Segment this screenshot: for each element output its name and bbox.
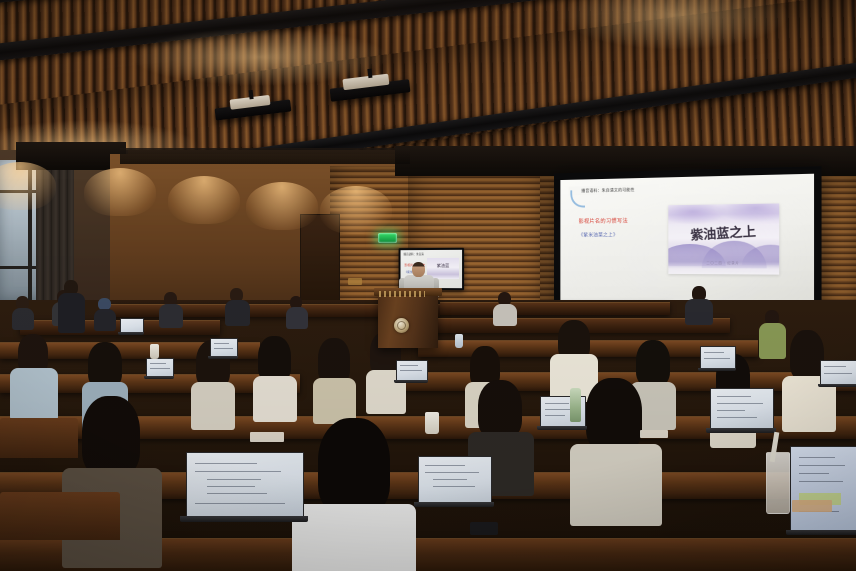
- person-body: [94, 309, 116, 331]
- presenter-head: [412, 262, 425, 277]
- person-hair: [82, 396, 140, 476]
- slide-swoosh-icon: [570, 190, 585, 208]
- person-body: [570, 444, 662, 526]
- lectern-top-surface: [374, 288, 442, 296]
- person-body: [159, 304, 183, 328]
- person-body: [292, 504, 416, 571]
- exit-sign-icon: [378, 233, 397, 243]
- poster-calligraphy-title: 紫油蓝之上: [690, 220, 756, 243]
- person-hair: [478, 380, 522, 438]
- person-body: [225, 300, 250, 326]
- monitor-header-text: 播音语料：朱自清: [403, 252, 423, 256]
- slide-poster-image: 紫油蓝之上 二〇二四 · 纪录片: [668, 203, 779, 274]
- thermos-flask-green[interactable]: [570, 388, 581, 422]
- slide-header-bar: 播音语料：朱自清文的可能性: [569, 185, 659, 196]
- water-bottle-mid[interactable]: [455, 334, 463, 348]
- lectern-nameplate: [379, 291, 425, 297]
- person-hair: [790, 330, 824, 380]
- person-body: [191, 382, 235, 430]
- person-body: [10, 368, 58, 420]
- snack-packet[interactable]: [792, 500, 832, 512]
- wall-header-band-left: [120, 148, 410, 164]
- handout-paper-2: [640, 430, 668, 438]
- chair-back-left-front: [0, 492, 120, 540]
- poster-cloud-2: [716, 203, 779, 222]
- paper-cup-center[interactable]: [425, 412, 439, 434]
- person-hair: [586, 378, 642, 452]
- handout-paper-1: [250, 432, 284, 442]
- person-hair: [318, 418, 390, 514]
- monitor-poster-calligraphy: 紫油蓝: [437, 263, 450, 269]
- person-body: [58, 293, 85, 333]
- person-body: [685, 299, 713, 325]
- lecture-hall-photograph: 播音语料：朱自清文的可能性 影视片名的习惯写法 《紫米油菜之上》 紫油蓝之上 二…: [0, 0, 856, 571]
- door-center[interactable]: [300, 214, 340, 312]
- desk-row-7b: [440, 302, 670, 315]
- person-body: [253, 376, 297, 422]
- person-body: [286, 307, 308, 329]
- slide-subtitle: 《紫米油菜之上》: [579, 231, 618, 238]
- window-mullion-v: [28, 160, 32, 300]
- wall-sign-plate: [348, 278, 362, 285]
- chair-back-left: [0, 418, 78, 458]
- slide-title: 影视片名的习惯写法: [579, 217, 628, 225]
- person-body: [493, 304, 517, 326]
- person-body: [12, 308, 34, 330]
- university-crest-icon: [394, 318, 409, 333]
- lectern[interactable]: [378, 292, 438, 348]
- person-hair: [636, 340, 670, 386]
- poster-footer-text: 二〇二四 · 纪录片: [706, 260, 739, 265]
- paper-cup-left[interactable]: [150, 344, 159, 359]
- smartphone-on-desk[interactable]: [470, 522, 498, 535]
- person-body: [759, 323, 786, 359]
